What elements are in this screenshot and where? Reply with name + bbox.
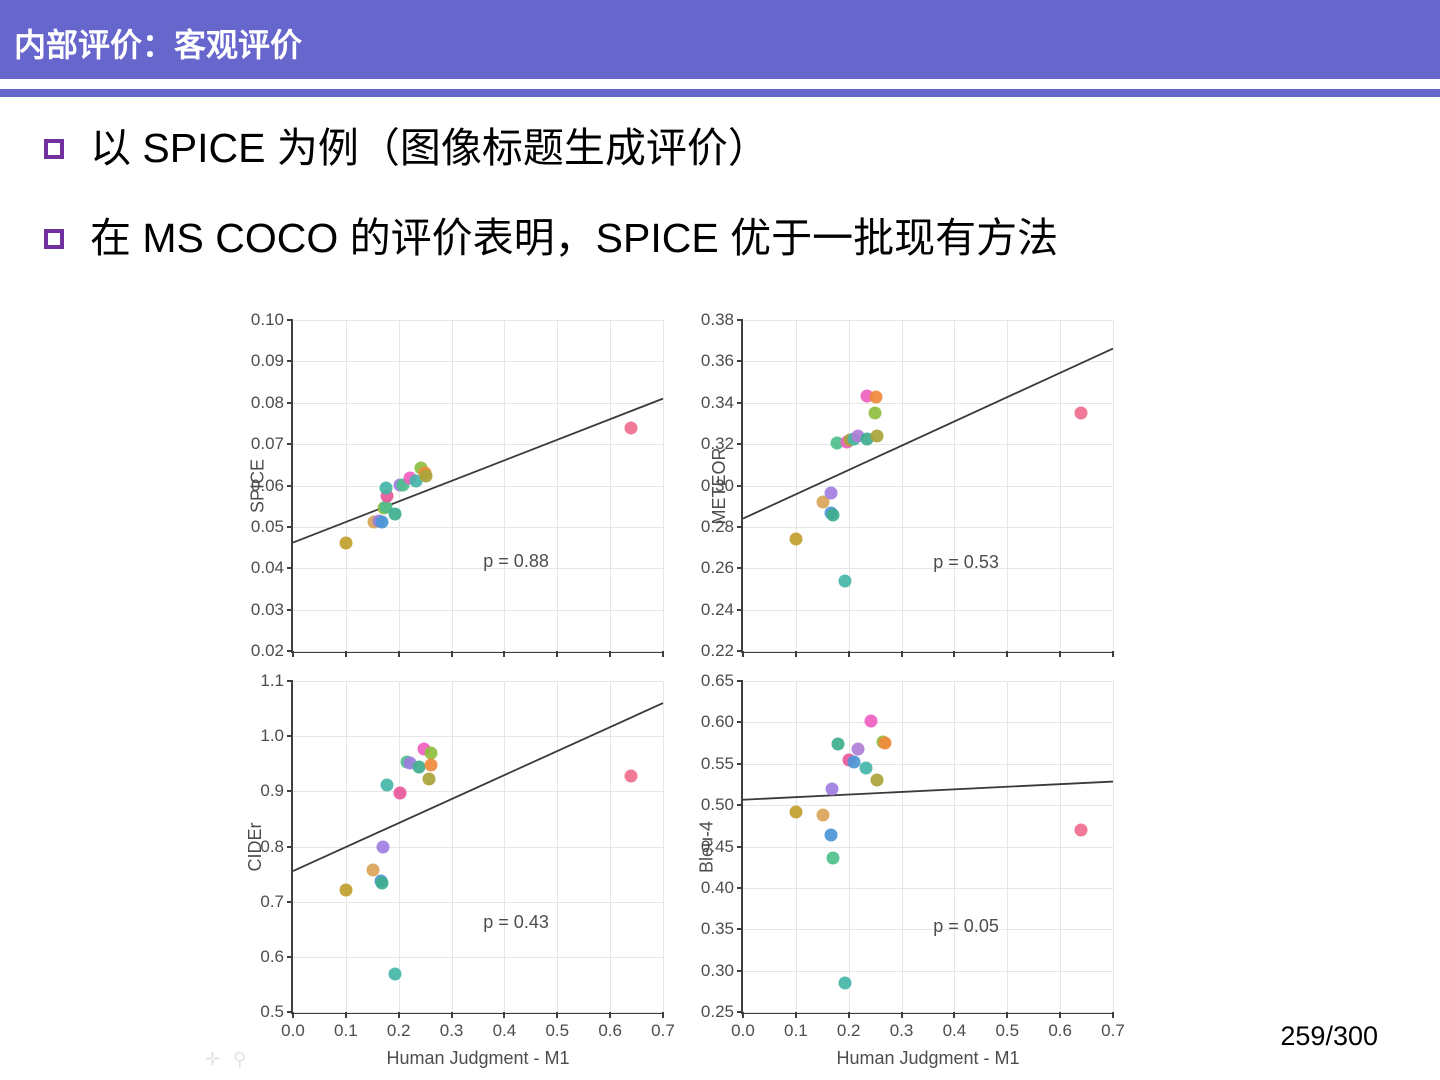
data-point <box>825 783 838 796</box>
gridline-horizontal <box>743 1012 1113 1013</box>
y-axis-label-cider: CIDEr <box>245 822 266 871</box>
data-point <box>860 761 873 774</box>
x-tick-mark <box>1059 1012 1061 1018</box>
x-tick-mark <box>795 1012 797 1018</box>
chart-panel-meteor: 0.220.240.260.280.300.320.340.360.38p = … <box>741 320 1111 651</box>
x-tick-label: 0.7 <box>1101 1021 1125 1041</box>
y-tick-label: 0.30 <box>701 961 734 981</box>
gridline-vertical <box>663 320 664 651</box>
x-axis-label-cider: Human Judgment - M1 <box>386 1048 569 1069</box>
y-tick-label: 0.9 <box>260 781 284 801</box>
y-tick-label: 0.7 <box>260 892 284 912</box>
x-tick-label: 0.1 <box>784 1021 808 1041</box>
data-point <box>419 469 432 482</box>
plot-area-meteor: 0.220.240.260.280.300.320.340.360.38p = … <box>741 320 1113 653</box>
page-number: 259/300 <box>1280 1021 1378 1052</box>
x-tick-mark <box>848 1012 850 1018</box>
x-tick-label: 0.5 <box>545 1021 569 1041</box>
gridline-horizontal <box>293 1012 663 1013</box>
y-tick-label: 0.50 <box>701 795 734 815</box>
y-tick-label: 0.05 <box>251 517 284 537</box>
gridline-vertical <box>1113 320 1114 651</box>
x-tick-mark <box>398 1012 400 1018</box>
y-tick-label: 0.04 <box>251 558 284 578</box>
data-point <box>389 968 402 981</box>
x-tick-label: 0.4 <box>943 1021 967 1041</box>
x-tick-mark <box>556 651 558 657</box>
y-tick-label: 0.36 <box>701 351 734 371</box>
x-tick-mark <box>1112 1012 1114 1018</box>
y-tick-label: 0.25 <box>701 1002 734 1022</box>
x-tick-mark <box>1112 651 1114 657</box>
data-point <box>1074 407 1087 420</box>
data-point <box>394 786 407 799</box>
data-point <box>389 508 402 521</box>
y-tick-label: 1.0 <box>260 726 284 746</box>
y-tick-label: 0.07 <box>251 434 284 454</box>
bullet-item-1-label: 在 MS COCO 的评价表明，SPICE 优于一批现有方法 <box>90 218 1058 259</box>
y-axis-label-bleu4: Bleu-4 <box>697 820 718 872</box>
x-tick-label: 0.4 <box>493 1021 517 1041</box>
data-point <box>878 737 891 750</box>
p-value-annotation-spice: p = 0.88 <box>483 551 549 572</box>
data-point <box>624 421 637 434</box>
plot-area-spice: 0.020.030.040.050.060.070.080.090.10p = … <box>291 320 663 653</box>
x-tick-label: 0.0 <box>281 1021 305 1041</box>
figure-toolbar-icons[interactable]: ✛ ⚲ <box>205 1049 250 1070</box>
trendline-spice <box>293 320 663 651</box>
x-tick-label: 0.1 <box>334 1021 358 1041</box>
trendline-bleu4 <box>743 681 1113 1012</box>
x-tick-label: 0.3 <box>890 1021 914 1041</box>
data-point <box>376 841 389 854</box>
square-bullet-icon <box>44 229 64 249</box>
square-bullet-icon <box>44 139 64 159</box>
data-point <box>852 742 865 755</box>
chart-panel-spice: 0.020.030.040.050.060.070.080.090.10p = … <box>291 320 661 651</box>
x-tick-label: 0.0 <box>731 1021 755 1041</box>
data-point <box>412 760 425 773</box>
bullet-item-1: 在 MS COCO 的评价表明，SPICE 优于一批现有方法 <box>44 218 1058 259</box>
data-point <box>832 737 845 750</box>
y-tick-label: 1.1 <box>260 671 284 691</box>
y-tick-label: 0.22 <box>701 641 734 661</box>
y-tick-label: 0.03 <box>251 600 284 620</box>
chart-panel-bleu4: 0.250.300.350.400.450.500.550.600.650.00… <box>741 681 1111 1012</box>
y-tick-label: 0.08 <box>251 393 284 413</box>
x-tick-mark <box>345 1012 347 1018</box>
y-tick-label: 0.10 <box>251 310 284 330</box>
x-tick-mark <box>901 1012 903 1018</box>
plot-area-cider: 0.50.60.70.80.91.01.10.00.10.20.30.40.50… <box>291 681 663 1014</box>
data-point <box>848 756 861 769</box>
y-tick-label: 0.26 <box>701 558 734 578</box>
data-point <box>871 430 884 443</box>
data-point <box>425 746 438 759</box>
data-point <box>423 772 436 785</box>
data-point <box>865 714 878 727</box>
data-point <box>339 537 352 550</box>
data-point <box>839 574 852 587</box>
y-tick-label: 0.24 <box>701 600 734 620</box>
data-point <box>375 877 388 890</box>
x-tick-mark <box>953 651 955 657</box>
p-value-annotation-cider: p = 0.43 <box>483 912 549 933</box>
data-point <box>826 509 839 522</box>
p-value-annotation-meteor: p = 0.53 <box>933 552 999 573</box>
x-tick-mark <box>848 651 850 657</box>
data-point <box>869 407 882 420</box>
trendline-cider <box>293 681 663 1012</box>
x-tick-label: 0.7 <box>651 1021 675 1041</box>
y-tick-label: 0.65 <box>701 671 734 691</box>
x-tick-mark <box>503 1012 505 1018</box>
bullet-item-0: 以 SPICE 为例（图像标题生成评价） <box>44 128 769 169</box>
page-title: 内部评价：客观评价 <box>14 20 302 66</box>
chart-panel-cider: 0.50.60.70.80.91.01.10.00.10.20.30.40.50… <box>291 681 661 1012</box>
data-point <box>339 883 352 896</box>
x-tick-mark <box>1006 1012 1008 1018</box>
bullet-item-0-label: 以 SPICE 为例（图像标题生成评价） <box>90 128 769 169</box>
data-point <box>825 828 838 841</box>
data-point <box>789 805 802 818</box>
y-tick-label: 0.35 <box>701 919 734 939</box>
data-point <box>381 778 394 791</box>
gridline-horizontal <box>743 651 1113 652</box>
slide: 内部评价：客观评价 以 SPICE 为例（图像标题生成评价） 在 MS COCO… <box>0 0 1440 1080</box>
data-point <box>1074 823 1087 836</box>
x-tick-mark <box>662 651 664 657</box>
y-tick-label: 0.40 <box>701 878 734 898</box>
y-tick-label: 0.6 <box>260 947 284 967</box>
gridline-vertical <box>663 681 664 1012</box>
trendline-meteor <box>743 320 1113 651</box>
data-point <box>871 774 884 787</box>
data-point <box>375 515 388 528</box>
data-point <box>817 809 830 822</box>
y-tick-label: 0.34 <box>701 393 734 413</box>
data-point <box>826 852 839 865</box>
x-tick-mark <box>451 651 453 657</box>
x-tick-mark <box>609 1012 611 1018</box>
x-tick-label: 0.2 <box>837 1021 861 1041</box>
data-point <box>380 482 393 495</box>
x-tick-mark <box>345 651 347 657</box>
data-point <box>624 770 637 783</box>
data-point <box>789 533 802 546</box>
x-tick-mark <box>398 651 400 657</box>
x-tick-mark <box>292 651 294 657</box>
y-tick-label: 0.60 <box>701 712 734 732</box>
x-tick-label: 0.5 <box>995 1021 1019 1041</box>
y-tick-label: 0.38 <box>701 310 734 330</box>
y-axis-label-meteor: METEOR <box>709 447 730 524</box>
data-point <box>869 390 882 403</box>
x-tick-label: 0.2 <box>387 1021 411 1041</box>
gridline-vertical <box>1113 681 1114 1012</box>
x-tick-mark <box>503 651 505 657</box>
x-tick-mark <box>1059 651 1061 657</box>
x-tick-label: 0.6 <box>1048 1021 1072 1041</box>
data-point <box>425 758 438 771</box>
x-axis-label-bleu4: Human Judgment - M1 <box>836 1048 1019 1069</box>
x-tick-mark <box>609 651 611 657</box>
x-tick-mark <box>742 651 744 657</box>
x-tick-mark <box>662 1012 664 1018</box>
x-tick-mark <box>795 651 797 657</box>
plot-area-bleu4: 0.250.300.350.400.450.500.550.600.650.00… <box>741 681 1113 1014</box>
x-tick-label: 0.3 <box>440 1021 464 1041</box>
data-point <box>839 977 852 990</box>
x-tick-mark <box>742 1012 744 1018</box>
x-tick-mark <box>1006 651 1008 657</box>
header-divider-rule <box>0 89 1440 97</box>
y-tick-label: 0.02 <box>251 641 284 661</box>
x-tick-mark <box>292 1012 294 1018</box>
x-tick-mark <box>953 1012 955 1018</box>
x-tick-label: 0.6 <box>598 1021 622 1041</box>
x-tick-mark <box>901 651 903 657</box>
y-axis-label-spice: SPICE <box>248 458 269 512</box>
x-tick-mark <box>556 1012 558 1018</box>
p-value-annotation-bleu4: p = 0.05 <box>933 916 999 937</box>
gridline-horizontal <box>293 651 663 652</box>
scatter-figure: 0.020.030.040.050.060.070.080.090.10p = … <box>215 300 1145 1080</box>
y-tick-label: 0.09 <box>251 351 284 371</box>
x-tick-mark <box>451 1012 453 1018</box>
data-point <box>825 487 838 500</box>
y-tick-label: 0.55 <box>701 754 734 774</box>
y-tick-label: 0.5 <box>260 1002 284 1022</box>
